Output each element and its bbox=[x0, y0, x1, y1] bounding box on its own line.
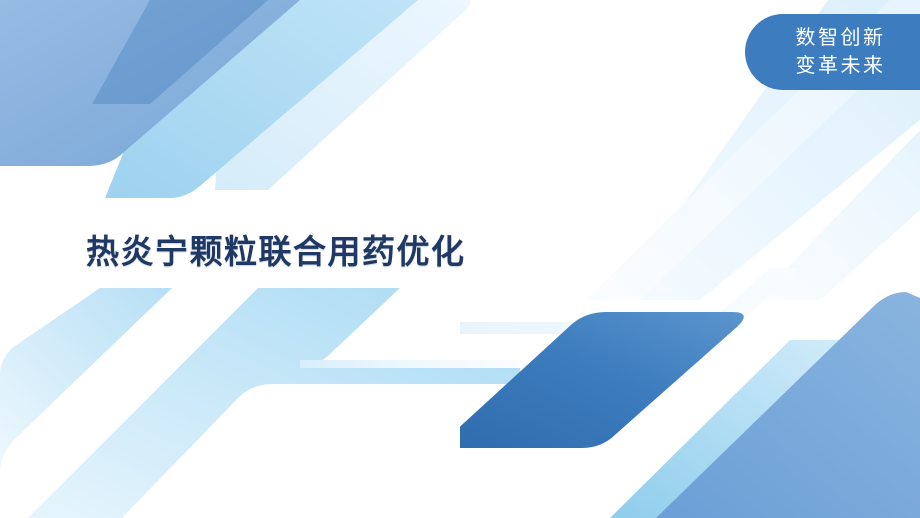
bottom-right-dark-parallelogram bbox=[460, 312, 744, 448]
bottom-left-horizontal-hairline bbox=[300, 360, 520, 368]
top-left-rounded-panel bbox=[0, 0, 300, 166]
title-block: 热炎宁颗粒联合用药优化 bbox=[86, 231, 706, 272]
bottom-right-corner-wedge bbox=[656, 292, 920, 518]
bottom-right-hairline bbox=[460, 268, 800, 334]
bottom-right-light-wedge bbox=[610, 340, 852, 518]
bottom-right-decoration bbox=[460, 268, 920, 518]
badge-line-1: 数智创新 bbox=[796, 24, 886, 52]
bottom-left-decoration bbox=[0, 288, 520, 518]
top-left-light-diagonal-stripe bbox=[105, 0, 418, 198]
top-left-overlap-tint bbox=[92, 0, 268, 104]
badge-line-2: 变革未来 bbox=[796, 52, 886, 80]
status-badge: 数智创新 变革未来 bbox=[745, 14, 920, 90]
bottom-left-light-diagonal-band bbox=[28, 288, 520, 518]
top-left-decoration bbox=[0, 0, 470, 210]
page-title: 热炎宁颗粒联合用药优化 bbox=[86, 231, 706, 272]
top-left-pale-diagonal-stripe bbox=[215, 0, 470, 190]
bottom-left-pale-diagonal-band bbox=[0, 288, 172, 474]
top-left-dark-diagonal-stripe bbox=[20, 0, 268, 128]
title-slide: 数智创新 变革未来 热炎宁颗粒联合用药优化 bbox=[0, 0, 920, 518]
